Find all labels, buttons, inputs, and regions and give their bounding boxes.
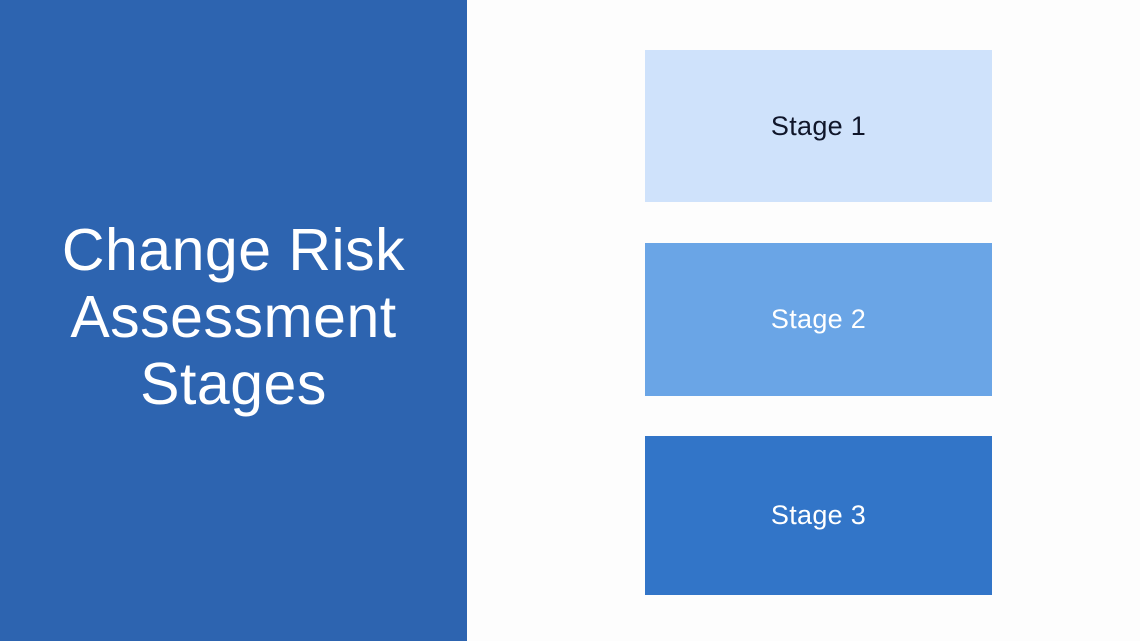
stage-list: Stage 1 Stage 2 Stage 3	[645, 50, 992, 595]
stage-box-3[interactable]: Stage 3	[645, 436, 992, 595]
slide-canvas: Change Risk Assessment Stages Stage 1 St…	[0, 0, 1140, 641]
stage-box-1-label: Stage 1	[771, 111, 866, 142]
stage-box-2-label: Stage 2	[771, 304, 866, 335]
stage-box-2[interactable]: Stage 2	[645, 243, 992, 396]
stage-box-1[interactable]: Stage 1	[645, 50, 992, 202]
page-title: Change Risk Assessment Stages	[34, 217, 434, 418]
stage-box-3-label: Stage 3	[771, 500, 866, 531]
title-panel: Change Risk Assessment Stages	[0, 0, 467, 641]
